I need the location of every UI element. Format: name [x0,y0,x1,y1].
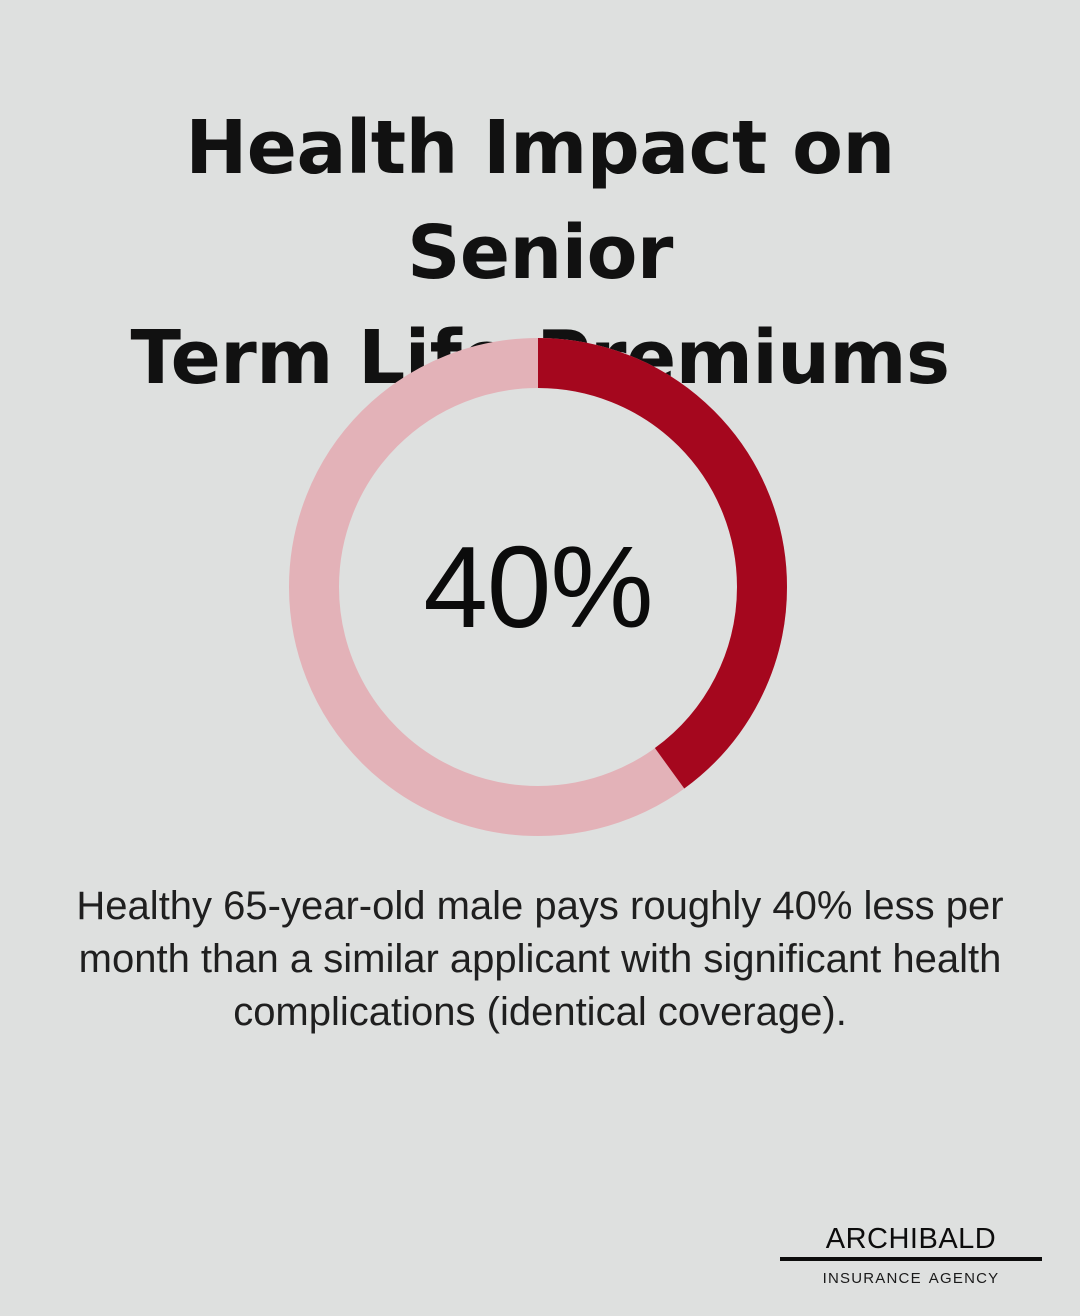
donut-chart-svg [289,338,787,836]
infographic-canvas: Health Impact on Senior Term Life Premiu… [0,0,1080,1316]
brand-logo: Archibald Insurance Agency [780,1212,1042,1288]
donut-chart: 40% [289,338,787,836]
logo-subtitle: Insurance Agency [780,1265,1042,1288]
body-text: Healthy 65-year-old male pays roughly 40… [58,880,1022,1040]
body-copy: Healthy 65-year-old male pays roughly 40… [58,880,1022,1040]
logo-divider [780,1257,1042,1261]
logo-name: Archibald [780,1212,1042,1256]
